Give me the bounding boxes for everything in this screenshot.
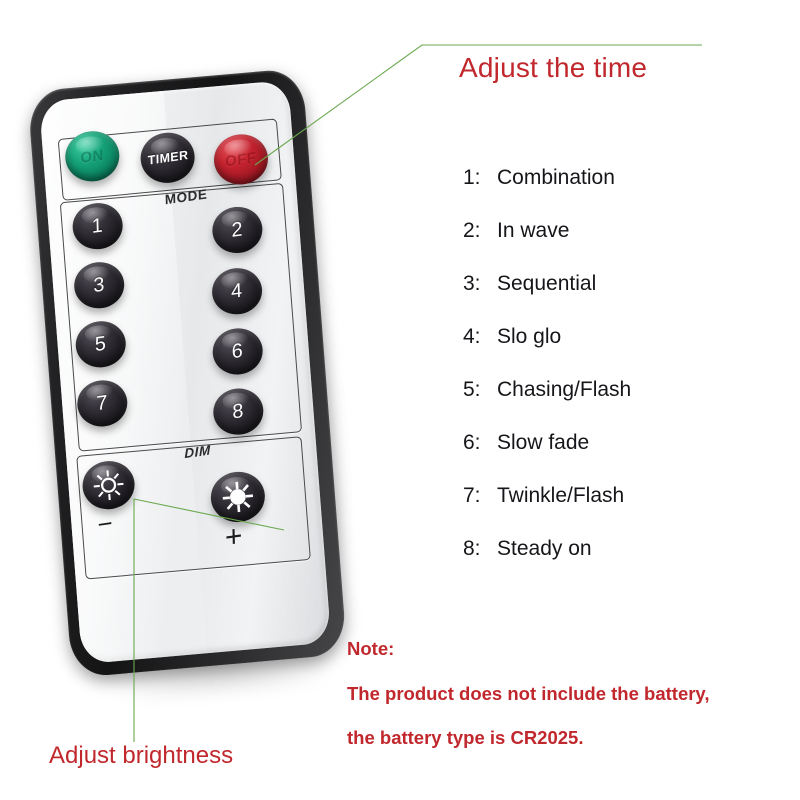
mode-legend-row: 1: Combination [463,166,783,219]
mode-button-2-label: 2 [231,218,243,243]
mode-legend-list: 1: Combination 2: In wave 3: Sequential … [463,166,783,590]
mode-button-3-label: 3 [93,273,105,298]
mode-legend-label: Combination [497,166,615,190]
mode-button-6-label: 6 [232,339,244,364]
note-heading: Note: [347,640,709,659]
adjust-time-annotation: Adjust the time [459,52,647,84]
off-button-label: OFF [225,149,257,170]
mode-legend-row: 3: Sequential [463,272,783,325]
mode-legend-index: 7: [463,484,497,508]
mode-legend-index: 3: [463,272,497,296]
dim-minus-symbol: − [97,509,113,537]
adjust-brightness-annotation: Adjust brightness [49,742,233,770]
mode-legend-row: 6: Slow fade [463,431,783,484]
mode-legend-label: Slow fade [497,431,589,455]
sun-filled-icon [220,479,256,516]
sun-outline-icon [90,467,126,504]
mode-legend-row: 4: Slo glo [463,325,783,378]
mode-button-4-label: 4 [231,279,243,304]
mode-legend-row: 7: Twinkle/Flash [463,484,783,537]
mode-button-7-label: 7 [96,391,108,416]
note-block: Note: The product does not include the b… [347,640,709,748]
mode-legend-index: 8: [463,537,497,561]
mode-button-8-label: 8 [232,399,244,424]
mode-legend-label: Twinkle/Flash [497,484,624,508]
note-line-2: the battery type is CR2025. [347,729,709,748]
mode-legend-label: Slo glo [497,325,561,349]
remote-body: MODE DIM ON TIMER OFF 1 2 [27,68,347,678]
mode-legend-label: Sequential [497,272,596,296]
timer-button-label: TIMER [147,148,188,168]
dim-plus-symbol: + [225,521,243,554]
mode-legend-label: Steady on [497,537,592,561]
mode-legend-index: 4: [463,325,497,349]
mode-legend-label: In wave [497,219,569,243]
remote-faceplate: MODE DIM ON TIMER OFF 1 2 [39,80,331,664]
product-info-graphic: MODE DIM ON TIMER OFF 1 2 [0,0,800,800]
mode-legend-row: 2: In wave [463,219,783,272]
mode-legend-row: 8: Steady on [463,537,783,590]
note-line-1: The product does not include the battery… [347,685,709,704]
mode-button-5-label: 5 [95,332,107,357]
mode-legend-index: 1: [463,166,497,190]
mode-legend-index: 6: [463,431,497,455]
mode-legend-row: 5: Chasing/Flash [463,378,783,431]
mode-legend-label: Chasing/Flash [497,378,631,402]
mode-legend-index: 5: [463,378,497,402]
mode-button-1-label: 1 [92,214,104,239]
mode-legend-index: 2: [463,219,497,243]
remote-control: MODE DIM ON TIMER OFF 1 2 [27,66,369,700]
on-button-label: ON [80,146,104,166]
